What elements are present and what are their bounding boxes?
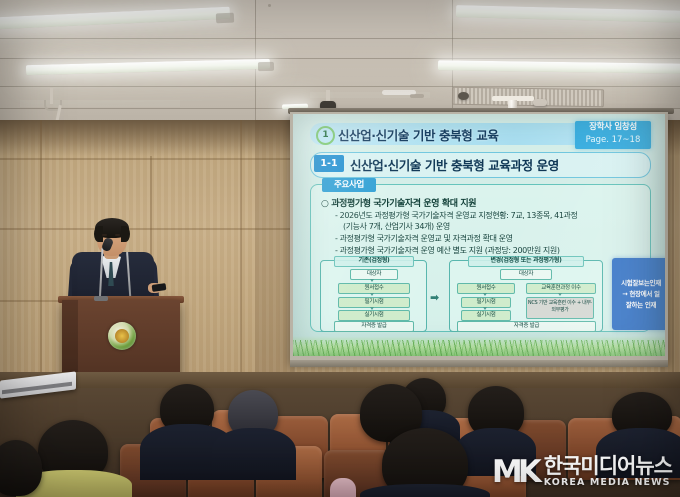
callout-line-1: → 현장에서 일 <box>612 289 665 300</box>
diagram-right-left-2: 실기시험 <box>461 310 511 321</box>
watermark-monogram: MK <box>492 457 537 488</box>
speaker-eye-left <box>102 234 107 236</box>
diagram-left-node-1: 원서접수 <box>338 283 410 294</box>
audience-shoulder <box>360 484 490 497</box>
bullet-1: - 2026년도 과정평가형 국가기술자격 운영교 지정현황: 7교, 13종목… <box>335 210 577 221</box>
slide-diagram: 기존(검정형) 대상자 원서접수 필기시험 실기시험 자격증 발급 ➡ 변경(검… <box>320 260 643 330</box>
bullet-4: - 과정평가형 국가기술자격 운영 예산 별도 지원 (과정당: 200만원 지… <box>335 245 560 256</box>
slide-presenter: 장학사 임창성 <box>575 121 651 134</box>
callout-line-0: 시험잘보는인재 <box>612 278 665 289</box>
ceiling-speaker-1 <box>458 92 469 100</box>
diagram-callout: 시험잘보는인재 → 현장에서 일 잘하는 인재 <box>612 258 665 330</box>
audience-shoulder <box>330 478 356 497</box>
diagram-left-node-0: 대상자 <box>350 269 398 280</box>
bullet-2: (기능사 7개, 산업기사 34개) 운영 <box>343 221 450 232</box>
ceiling-speaker-2 <box>533 99 547 106</box>
podium-emblem <box>108 322 136 350</box>
diagram-left-node-2: 필기시험 <box>338 297 410 308</box>
watermark: MK 한국미디어뉴스 KOREA MEDIA NEWS <box>492 455 672 489</box>
diagram-transition-arrow: ➡ <box>430 292 439 303</box>
slide-section-badge: 주요사업 <box>322 178 376 192</box>
slide-header-number: 1 <box>316 126 335 145</box>
callout-line-2: 잘하는 인재 <box>612 300 665 311</box>
audience-shoulder <box>212 428 296 480</box>
slide-page-badge: 장학사 임창성 Page. 17~18 <box>575 121 651 149</box>
diagram-left-node-3: 실기시험 <box>338 310 410 321</box>
screen-bottom-bar <box>290 360 668 367</box>
bullet-3: - 과정평가형 국가기술자격 운영교 및 자격과정 확대 운영 <box>335 233 513 244</box>
diagram-left-node-4: 자격증 발급 <box>334 321 414 332</box>
speaker-eye-right <box>115 234 120 236</box>
watermark-korean: 한국미디어뉴스 <box>544 455 672 477</box>
diagram-right-bottom: 자격증 발급 <box>457 321 596 332</box>
watermark-english: KOREA MEDIA NEWS <box>544 477 672 489</box>
microphone-base <box>94 296 108 301</box>
diagram-right-title: 변경(검정형 또는 과정평가형) <box>468 256 584 267</box>
slide-page-number: Page. 17~18 <box>575 134 651 146</box>
slide-header-title: 신산업·신기술 기반 충북형 교육 <box>338 125 499 144</box>
diagram-left-title: 기존(검정형) <box>334 256 414 267</box>
diagram-right-top: 대상자 <box>500 269 552 280</box>
projection-screen: 1 신산업·신기술 기반 충북형 교육 장학사 임창성 Page. 17~18 … <box>293 114 665 356</box>
slide: 1 신산업·신기술 기반 충북형 교육 장학사 임창성 Page. 17~18 … <box>293 114 665 356</box>
bullet-0: ○ 과정평가형 국가기술자격 운영 확대 지원 <box>321 196 476 209</box>
diagram-right-right-1: NCS 기반 교육훈련 이수 + 내부·외부평가 <box>526 297 594 319</box>
slide-subheader-title: 신산업·신기술 기반 충북형 교육과정 운영 <box>350 155 559 174</box>
slide-subheader-tag: 1-1 <box>314 155 344 172</box>
presentation-photo: 1 신산업·신기술 기반 충북형 교육 장학사 임창성 Page. 17~18 … <box>0 0 680 497</box>
